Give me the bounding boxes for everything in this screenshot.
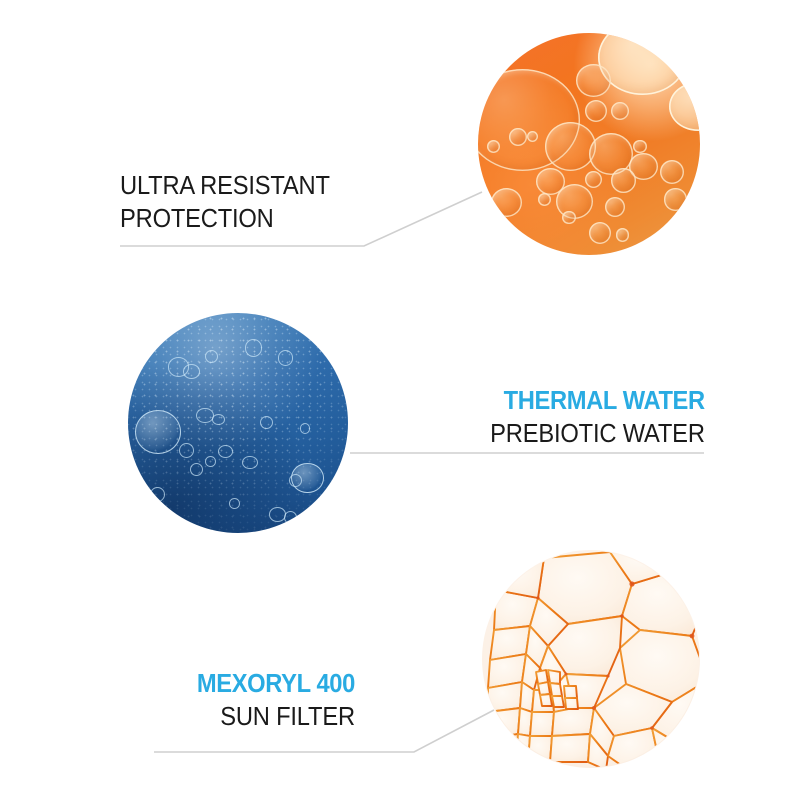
feature-title-mexoryl: MEXORYL 400 xyxy=(197,668,355,701)
orange-oil-bubbles-swatch xyxy=(478,33,700,255)
feature-label-ultra-resistant: ULTRA RESISTANT PROTECTION xyxy=(120,170,346,236)
foam-cells-swatch xyxy=(482,550,700,768)
feature-label-thermal-water: THERMAL WATER PREBIOTIC WATER xyxy=(474,385,705,451)
feature-subtitle-mexoryl: SUN FILTER xyxy=(197,701,355,734)
feature-title-thermal-water: THERMAL WATER xyxy=(490,385,705,418)
feature-title-ultra-resistant: ULTRA RESISTANT xyxy=(120,170,330,203)
feature-label-mexoryl: MEXORYL 400 SUN FILTER xyxy=(185,668,355,734)
infographic-canvas: ULTRA RESISTANT PROTECTION THERMAL WATER… xyxy=(0,0,800,800)
blue-water-bubbles-swatch xyxy=(128,313,348,533)
foam-cell-structure xyxy=(482,550,700,768)
feature-subtitle-thermal-water: PREBIOTIC WATER xyxy=(490,418,705,451)
feature-subtitle-ultra-resistant: PROTECTION xyxy=(120,203,330,236)
